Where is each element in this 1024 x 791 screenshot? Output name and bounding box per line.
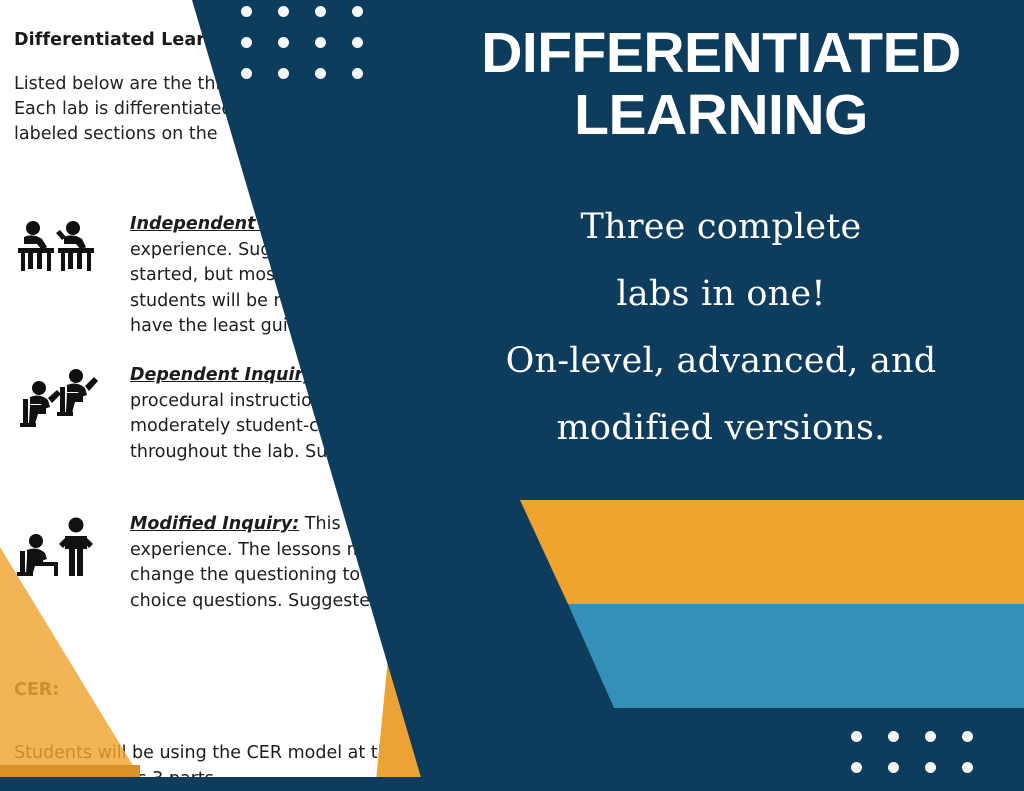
dot xyxy=(241,6,252,17)
dot xyxy=(315,37,326,48)
dot xyxy=(851,762,862,773)
subtitle-line-4: modified versions. xyxy=(418,395,1024,462)
headline-block: DIFFERENTIATED LEARNING xyxy=(418,22,1024,146)
dot xyxy=(278,6,289,17)
teacher-with-student-icon xyxy=(14,516,102,578)
headline-line-1: DIFFERENTIATED xyxy=(418,22,1024,84)
dot xyxy=(315,6,326,17)
dot-grid-top xyxy=(241,6,389,99)
subtitle-line-1: Three complete xyxy=(418,194,1024,261)
inquiry-level-label: Modified Inquiry: xyxy=(130,514,299,534)
dot xyxy=(278,37,289,48)
dot xyxy=(315,68,326,79)
dot xyxy=(925,731,936,742)
dot-grid-bottom xyxy=(851,731,999,791)
dot xyxy=(925,762,936,773)
subtitle-line-2: labs in one! xyxy=(418,261,1024,328)
students-at-desks-icon xyxy=(14,216,102,278)
students-raising-hands-icon xyxy=(14,367,102,429)
dot xyxy=(888,731,899,742)
dot xyxy=(851,731,862,742)
dot xyxy=(352,37,363,48)
slide-canvas: Differentiated Learning Listed below are… xyxy=(0,0,1024,791)
dot xyxy=(962,731,973,742)
dot xyxy=(352,6,363,17)
dot xyxy=(241,37,252,48)
orange-corner-foot xyxy=(0,765,140,777)
dot xyxy=(962,762,973,773)
subtitle-line-3: On-level, advanced, and xyxy=(418,328,1024,395)
subtitle-block: Three complete labs in one! On-level, ad… xyxy=(418,194,1024,462)
headline-line-2: LEARNING xyxy=(418,84,1024,146)
dot xyxy=(352,68,363,79)
dot xyxy=(278,68,289,79)
inquiry-level-label: Dependent Inquiry: xyxy=(130,365,322,385)
dot xyxy=(888,762,899,773)
dot xyxy=(241,68,252,79)
